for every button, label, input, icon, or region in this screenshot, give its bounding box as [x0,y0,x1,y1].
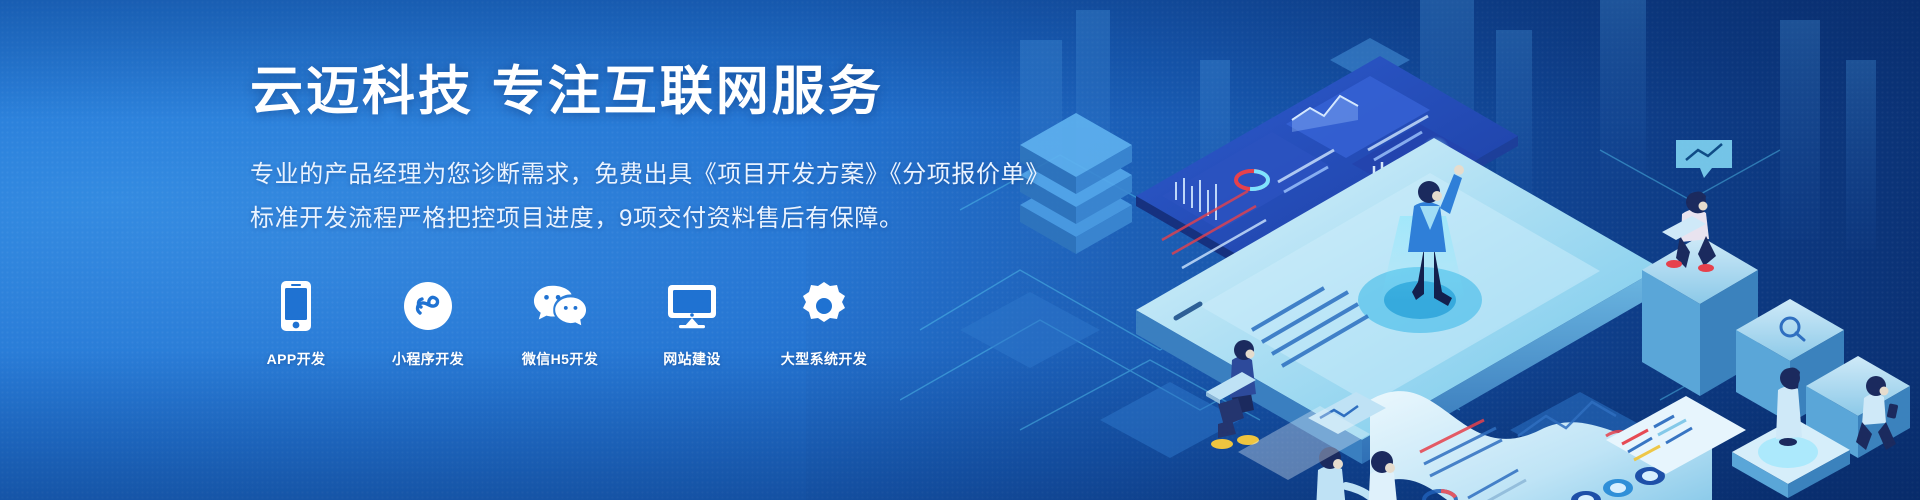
mini-program-icon [401,279,455,333]
subtitle-line-2: 标准开发流程严格把控项目进度，9项交付资料售后有保障。 [250,197,1150,241]
service-label: 大型系统开发 [781,349,867,369]
service-item-wechat-h5[interactable]: 微信H5开发 [514,279,606,369]
monitor-icon [665,279,719,333]
service-label: 微信H5开发 [522,349,598,369]
service-item-miniprogram[interactable]: 小程序开发 [382,279,474,369]
page-title: 云迈科技 专注互联网服务 [250,62,1150,121]
mobile-phone-icon [269,279,323,333]
service-label: 小程序开发 [392,349,464,369]
service-item-website[interactable]: 网站建设 [646,279,738,369]
service-item-app[interactable]: APP开发 [250,279,342,369]
gear-icon [797,279,851,333]
subtitle-line-1: 专业的产品经理为您诊断需求，免费出具《项目开发方案》《分项报价单》 [250,153,1150,197]
floating-chart-bubble [1676,140,1732,178]
wechat-icon [533,279,587,333]
service-list: APP开发 小程序开发 [250,279,1150,369]
hero-banner: 云迈科技 专注互联网服务 专业的产品经理为您诊断需求，免费出具《项目开发方案》《… [0,0,1920,500]
service-item-large-system[interactable]: 大型系统开发 [778,279,870,369]
service-label: 网站建设 [663,349,721,369]
subtitle-block: 专业的产品经理为您诊断需求，免费出具《项目开发方案》《分项报价单》 标准开发流程… [250,153,1150,241]
service-label: APP开发 [267,349,326,369]
hero-copy: 云迈科技 专注互联网服务 专业的产品经理为您诊断需求，免费出具《项目开发方案》《… [250,62,1150,369]
